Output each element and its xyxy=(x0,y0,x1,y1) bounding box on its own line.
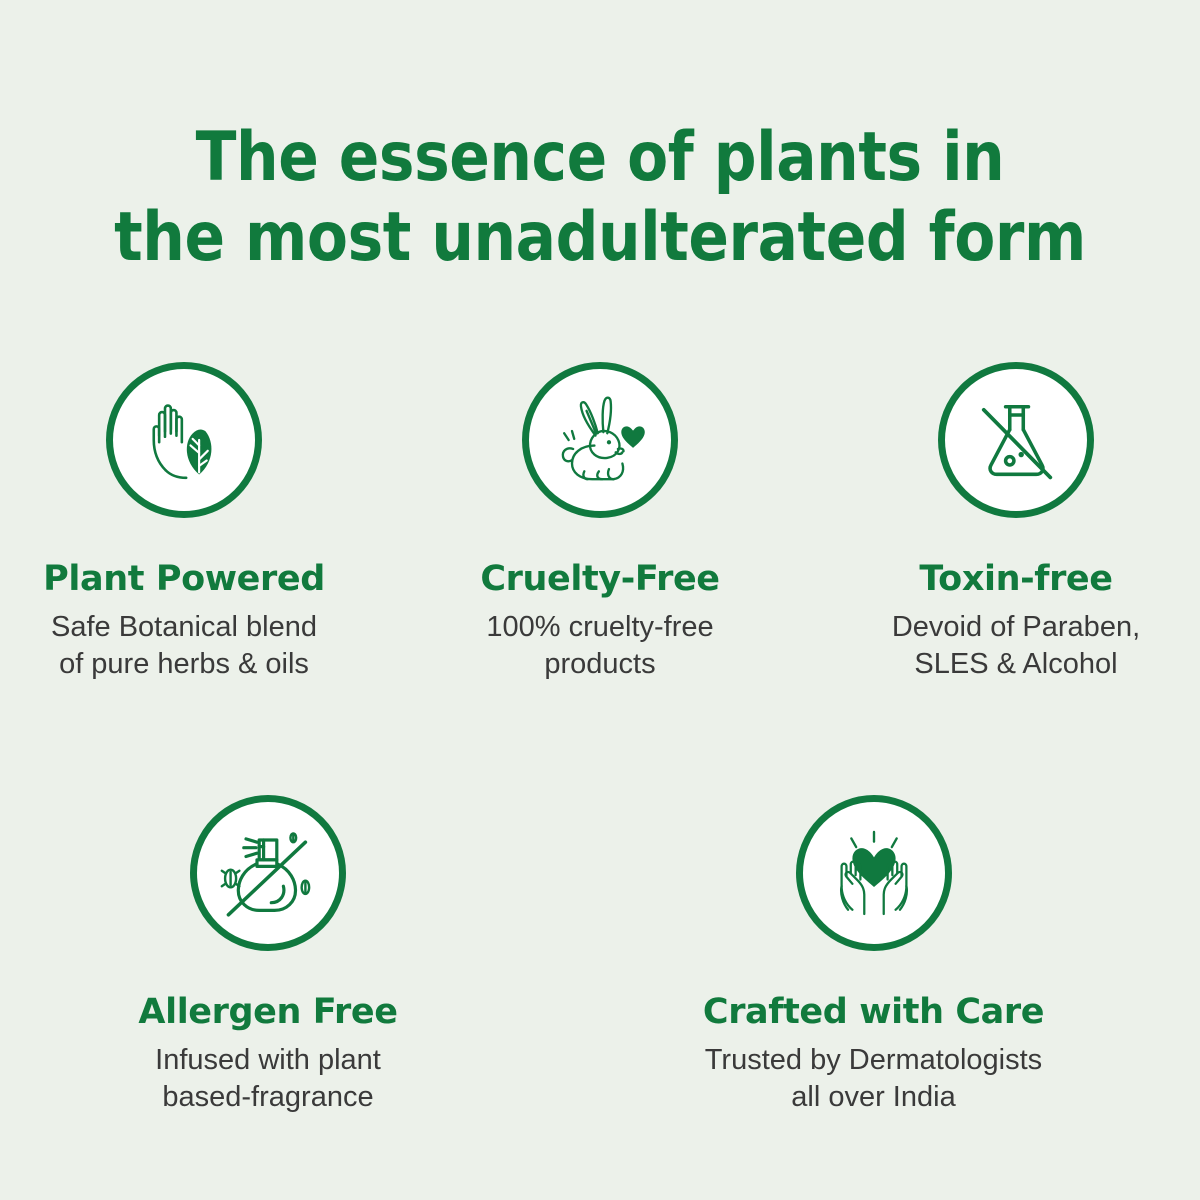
badge-allergen-free xyxy=(190,795,346,951)
no-flask-icon xyxy=(964,388,1068,492)
slash-line xyxy=(984,410,1051,478)
hand-leaf-icon xyxy=(130,386,238,494)
feature-cruelty-free: Cruelty-Free 100% cruelty-free products xyxy=(449,362,752,683)
feature-description: Devoid of Paraben, SLES & Alcohol xyxy=(892,609,1140,683)
badge-plant-powered xyxy=(106,362,262,518)
page-title-line-2: the most unadulterated form xyxy=(72,198,1128,278)
feature-crafted-with-care: Crafted with Care Trusted by Dermatologi… xyxy=(664,795,1084,1116)
features-row-2: Allergen Free Infused with plant based-f… xyxy=(0,795,1200,1116)
feature-title: Crafted with Care xyxy=(703,992,1044,1032)
feature-title: Plant Powered xyxy=(43,559,325,599)
no-perfume-bottle-icon xyxy=(213,818,323,928)
hands-holding-heart-icon xyxy=(820,819,928,927)
sparkle-rays xyxy=(851,832,896,847)
flask-bubble xyxy=(1018,452,1023,457)
feature-description: Safe Botanical blend of pure herbs & oil… xyxy=(51,609,317,683)
badge-toxin-free xyxy=(938,362,1094,518)
feature-title: Cruelty-Free xyxy=(480,559,719,599)
page-title: The essence of plants in the most unadul… xyxy=(72,118,1128,278)
feature-title: Toxin-free xyxy=(919,559,1112,599)
feature-plant-powered: Plant Powered Safe Botanical blend of pu… xyxy=(33,362,336,683)
features-row-1: Plant Powered Safe Botanical blend of pu… xyxy=(0,362,1200,683)
feature-description: 100% cruelty-free products xyxy=(486,609,713,683)
infographic-page: The essence of plants in the most unadul… xyxy=(0,0,1200,1200)
feature-toxin-free: Toxin-free Devoid of Paraben, SLES & Alc… xyxy=(865,362,1168,683)
feature-description: Infused with plant based-fragrance xyxy=(155,1042,381,1116)
badge-cruelty-free xyxy=(522,362,678,518)
badge-crafted-with-care xyxy=(796,795,952,951)
feature-title: Allergen Free xyxy=(138,992,397,1032)
page-title-line-1: The essence of plants in xyxy=(72,118,1128,198)
features-grid: Plant Powered Safe Botanical blend of pu… xyxy=(0,362,1200,1116)
rabbit-heart-icon xyxy=(544,384,656,496)
heart-shape xyxy=(621,426,645,447)
rabbit-eye xyxy=(607,440,611,444)
feature-allergen-free: Allergen Free Infused with plant based-f… xyxy=(117,795,420,1116)
feature-description: Trusted by Dermatologists all over India xyxy=(705,1042,1042,1116)
